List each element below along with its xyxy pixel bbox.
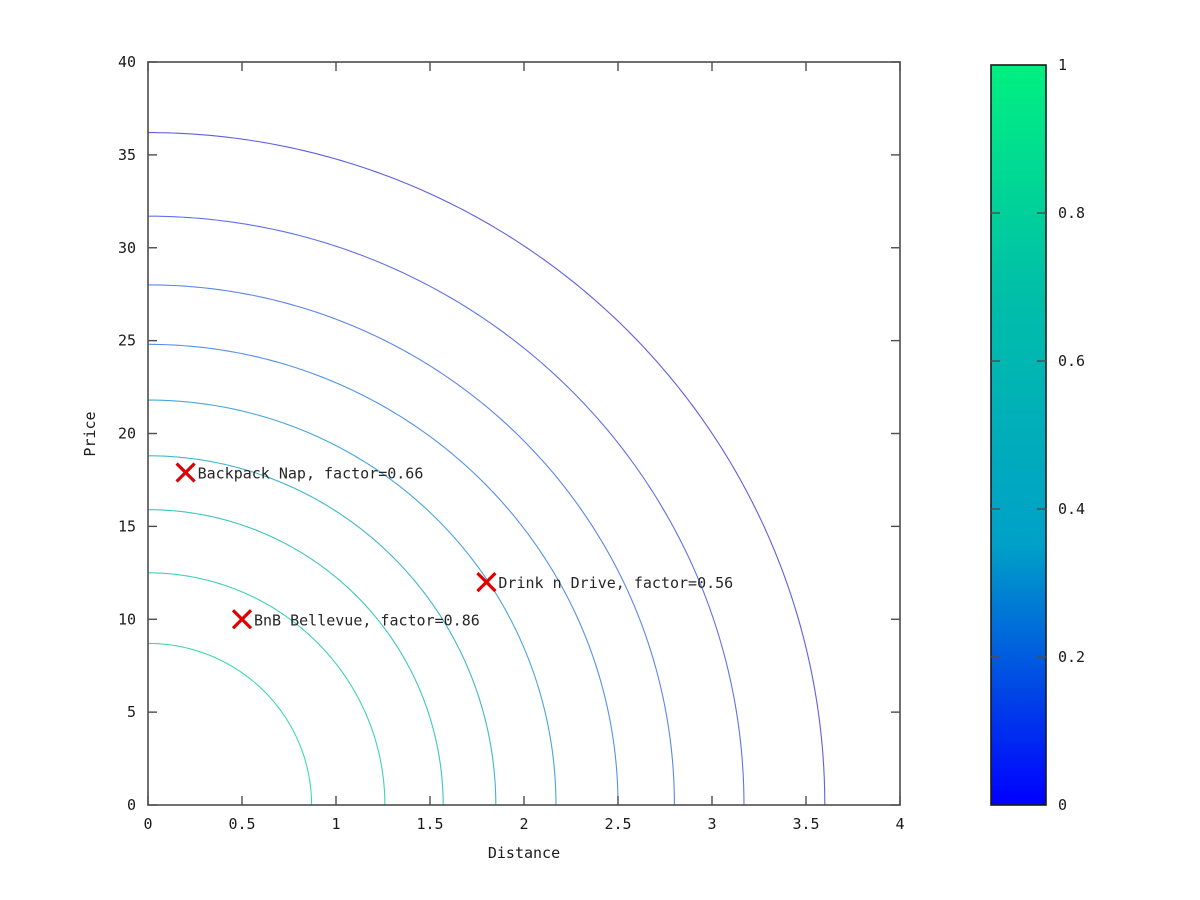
y-axis-ticks-group: 0510152025303540 bbox=[118, 53, 900, 814]
y-tick-label-0: 0 bbox=[127, 796, 136, 814]
annotation-backpack-nap: Backpack Nap, factor=0.66 bbox=[177, 464, 424, 483]
contour-line-level-0.8 bbox=[148, 573, 385, 805]
y-tick-label-40: 40 bbox=[118, 53, 136, 71]
x-tick-label-3: 3 bbox=[707, 815, 716, 833]
y-tick-label-30: 30 bbox=[118, 239, 136, 257]
annotation-drink-n-drive: Drink n Drive, factor=0.56 bbox=[477, 573, 733, 592]
chart-canvas: 00.511.522.533.54 0510152025303540 Dista… bbox=[0, 0, 1200, 900]
colorbar-gradient bbox=[991, 65, 1046, 805]
y-tick-label-25: 25 bbox=[118, 332, 136, 350]
x-tick-label-2.5: 2.5 bbox=[604, 815, 631, 833]
colorbar-tick-label-0.2: 0.2 bbox=[1058, 648, 1085, 666]
annotation-bnb-bellevue: BnB Bellevue, factor=0.86 bbox=[233, 610, 480, 629]
annotations-group: Backpack Nap, factor=0.66Drink n Drive, … bbox=[177, 464, 734, 630]
x-tick-label-4: 4 bbox=[895, 815, 904, 833]
x-tick-label-0.5: 0.5 bbox=[228, 815, 255, 833]
plot-frame bbox=[148, 62, 900, 805]
annotation-label: Drink n Drive, factor=0.56 bbox=[498, 574, 733, 592]
contour-line-level-0.3 bbox=[148, 285, 674, 805]
contour-line-level-0.2 bbox=[148, 216, 744, 805]
colorbar-tick-label-0.4: 0.4 bbox=[1058, 500, 1085, 518]
colorbar-tick-label-0.6: 0.6 bbox=[1058, 352, 1085, 370]
x-tick-label-3.5: 3.5 bbox=[792, 815, 819, 833]
y-tick-label-20: 20 bbox=[118, 425, 136, 443]
y-tick-label-5: 5 bbox=[127, 703, 136, 721]
x-axis-title: Distance bbox=[488, 844, 560, 862]
colorbar-tick-label-0.8: 0.8 bbox=[1058, 204, 1085, 222]
annotation-label: Backpack Nap, factor=0.66 bbox=[198, 465, 424, 483]
x-tick-label-1: 1 bbox=[331, 815, 340, 833]
x-tick-label-2: 2 bbox=[519, 815, 528, 833]
colorbar-tick-label-0: 0 bbox=[1058, 796, 1067, 814]
y-tick-label-10: 10 bbox=[118, 610, 136, 628]
y-tick-label-15: 15 bbox=[118, 517, 136, 535]
colorbar-tick-label-1: 1 bbox=[1058, 56, 1067, 74]
contour-line-level-0.6 bbox=[148, 456, 496, 805]
contour-line-level-0.7 bbox=[148, 510, 443, 805]
x-tick-label-1.5: 1.5 bbox=[416, 815, 443, 833]
y-tick-label-35: 35 bbox=[118, 146, 136, 164]
contour-chart: 00.511.522.533.54 0510152025303540 Dista… bbox=[0, 0, 1200, 900]
annotation-label: BnB Bellevue, factor=0.86 bbox=[254, 611, 480, 629]
contour-line-level-0.9 bbox=[148, 643, 312, 805]
y-axis-title: Price bbox=[81, 411, 99, 456]
x-tick-label-0: 0 bbox=[143, 815, 152, 833]
x-axis-ticks-group: 00.511.522.533.54 bbox=[143, 62, 904, 833]
